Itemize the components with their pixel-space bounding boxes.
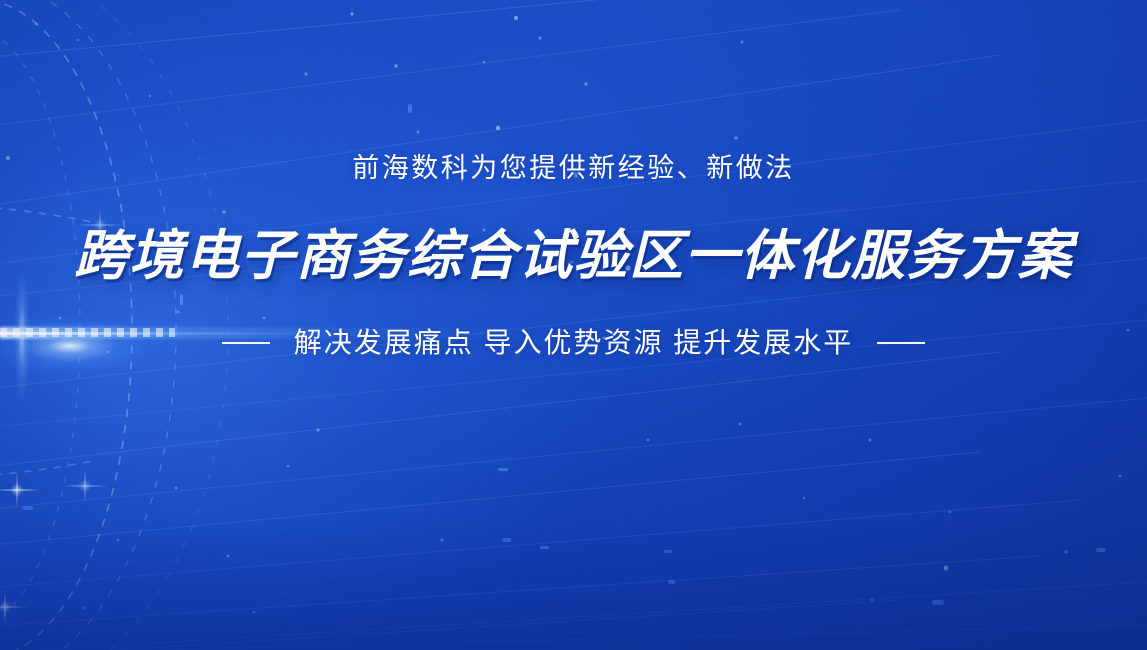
bottom-fade-overlay	[0, 520, 1147, 650]
promo-banner: 前海数科为您提供新经验、新做法 跨境电子商务综合试验区一体化服务方案 解决发展痛…	[0, 0, 1147, 650]
banner-headline: 跨境电子商务综合试验区一体化服务方案	[0, 225, 1147, 287]
rule-left	[222, 342, 270, 344]
rule-right	[877, 342, 925, 344]
banner-tagline-row: 解决发展痛点 导入优势资源 提升发展水平	[0, 326, 1147, 360]
banner-eyebrow: 前海数科为您提供新经验、新做法	[0, 152, 1147, 184]
banner-tagline: 解决发展痛点 导入优势资源 提升发展水平	[294, 326, 854, 360]
